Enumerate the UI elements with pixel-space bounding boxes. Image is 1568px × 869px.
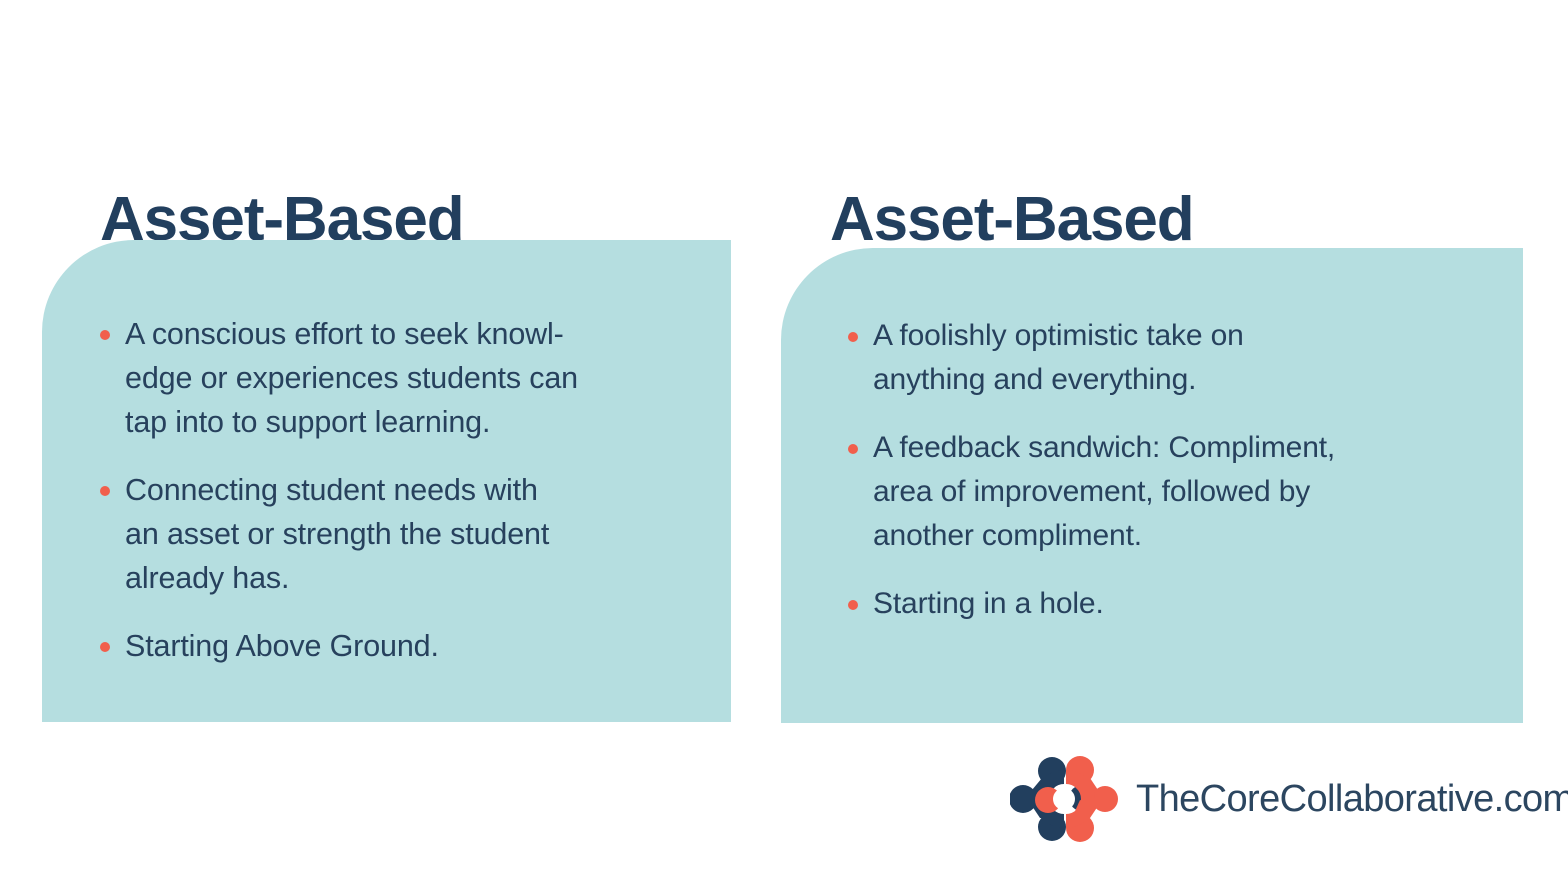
footer-brand: TheCoreCollaborative.com — [1010, 756, 1568, 842]
bullet-text: Starting in a hole. — [873, 582, 1505, 626]
the-core-collaborative-logo-icon — [1010, 756, 1118, 842]
list-item: Starting in a hole. — [845, 582, 1505, 626]
bullet-list-is-not: A foolishly optimistic take on anything … — [845, 314, 1505, 626]
bullet-text: A feedback sandwich: Compliment, area of… — [873, 426, 1505, 558]
infographic-canvas: Asset-Based Feedback IS... Asset-Based F… — [0, 0, 1568, 869]
bullet-text: Starting Above Ground. — [125, 624, 707, 668]
bullet-text: A conscious effort to seek knowl- edge o… — [125, 312, 707, 444]
list-item: Connecting student needs with an asset o… — [97, 468, 707, 600]
list-item: A conscious effort to seek knowl- edge o… — [97, 312, 707, 444]
list-item: A feedback sandwich: Compliment, area of… — [845, 426, 1505, 558]
list-item: Starting Above Ground. — [97, 624, 707, 668]
list-item: A foolishly optimistic take on anything … — [845, 314, 1505, 402]
bullet-list-is: A conscious effort to seek knowl- edge o… — [97, 312, 707, 668]
brand-url-text: TheCoreCollaborative.com — [1136, 778, 1568, 821]
bullet-text: Connecting student needs with an asset o… — [125, 468, 707, 600]
bullet-text: A foolishly optimistic take on anything … — [873, 314, 1505, 402]
